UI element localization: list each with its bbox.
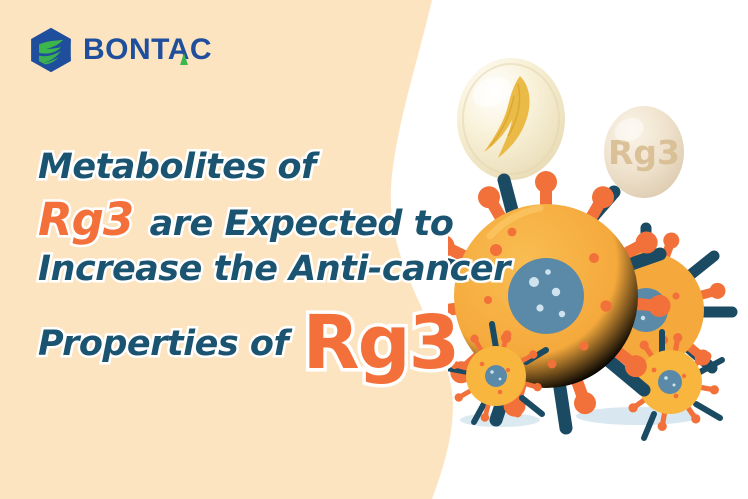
- rg3-softgel-capsule: Rg3: [604, 106, 684, 198]
- bontac-wordmark: BONTAC: [83, 35, 212, 65]
- headline-line-1: Metabolites of: [38, 150, 508, 185]
- headline-line-2-text: are Expected to: [150, 207, 454, 242]
- promo-banner: BONTAC Metabolites of Rg3 are Expected t…: [0, 0, 748, 499]
- headline-line-4: Properties of Rg3: [38, 293, 508, 367]
- headline-line-2: Rg3 are Expected to: [38, 197, 508, 242]
- headline-rg3-highlight-top: Rg3: [38, 197, 133, 242]
- headline-rg3-highlight-bottom: Rg3: [303, 306, 458, 380]
- bontac-wordmark-text: BONTAC: [83, 33, 212, 66]
- headline-block: Metabolites of Rg3 are Expected to Incre…: [38, 150, 508, 367]
- brand-logo[interactable]: BONTAC: [28, 27, 212, 73]
- headline-line-4-text: Properties of: [38, 327, 288, 362]
- headline-line-1-text: Metabolites of: [38, 150, 316, 185]
- headline-line-3-text: Increase the Anti-cancer: [38, 252, 510, 287]
- bontac-hexagon-leaf-logo-icon: [28, 27, 74, 73]
- leaf-accent-icon: [179, 53, 189, 65]
- headline-line-3: Increase the Anti-cancer: [38, 252, 508, 287]
